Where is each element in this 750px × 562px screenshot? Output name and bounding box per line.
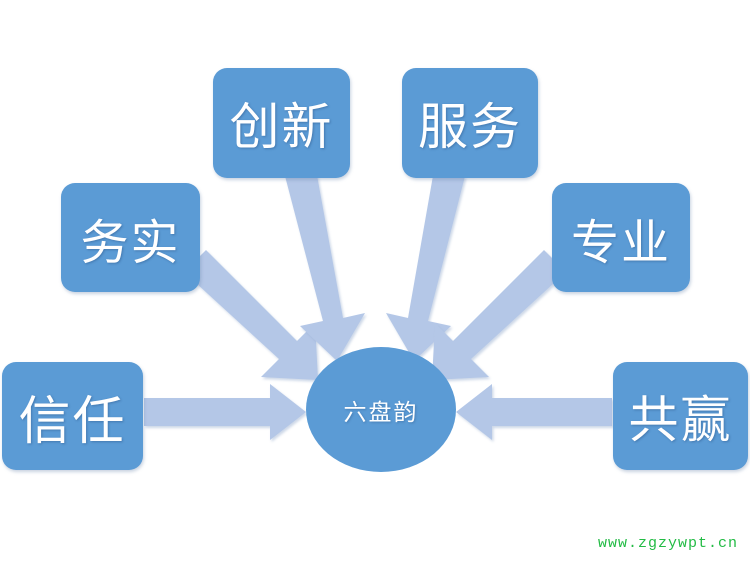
center-node-label: 六盘韵 [344,393,419,427]
node-label-wushi: 务实 [80,203,180,273]
diagram-canvas: 务实 创新 服务 专业 信任 共赢 六盘韵 www.zgzywpt.cn [0,0,750,562]
node-box-zhuanye[interactable]: 专业 [552,183,690,292]
arrow-chuangxin-to-center [285,170,365,361]
node-box-wushi[interactable]: 务实 [61,183,200,292]
node-box-chuangxin[interactable]: 创新 [213,68,350,178]
node-box-xinren[interactable]: 信任 [2,362,143,470]
node-label-chuangxin: 创新 [230,87,334,159]
arrow-wushi-to-center [184,250,318,380]
arrow-gongying-to-center [456,384,612,440]
center-node-ellipse[interactable]: 六盘韵 [306,347,456,472]
node-box-fuwu[interactable]: 服务 [402,68,538,178]
node-label-xinren: 信任 [18,379,126,454]
node-label-gongying: 共赢 [629,380,733,452]
node-box-gongying[interactable]: 共赢 [613,362,748,470]
arrow-fuwu-to-center [386,170,465,361]
watermark-url: www.zgzywpt.cn [598,535,738,552]
arrow-zhuanye-to-center [432,250,566,380]
node-label-zhuanye: 专业 [571,203,671,273]
node-label-fuwu: 服务 [418,87,522,159]
arrow-xinren-to-center [144,384,306,440]
